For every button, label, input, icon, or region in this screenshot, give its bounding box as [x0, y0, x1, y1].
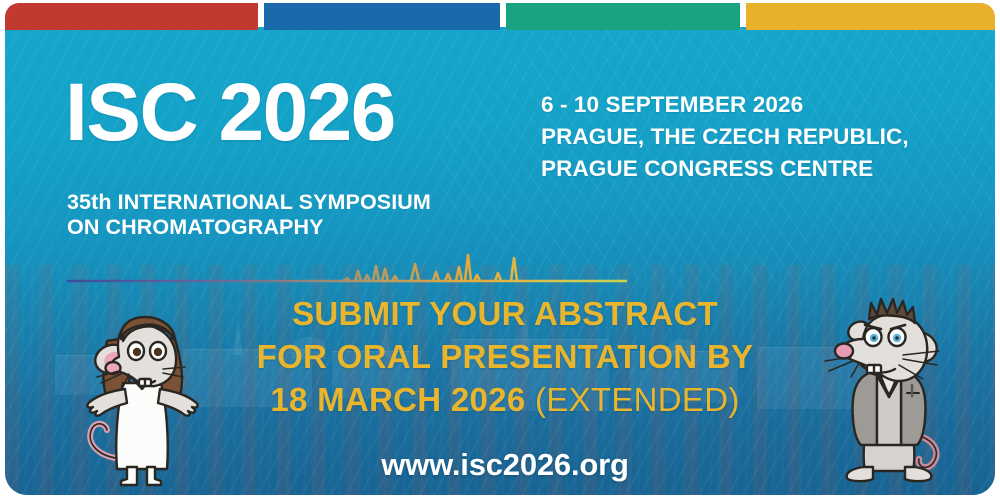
male-mouse-mascot — [811, 275, 971, 495]
topbar-segment-red — [5, 3, 258, 30]
conference-banner: ISC 2026 35th INTERNATIONAL SYMPOSIUM ON… — [0, 0, 1000, 500]
banner-card: ISC 2026 35th INTERNATIONAL SYMPOSIUM ON… — [5, 27, 995, 495]
event-logo: ISC 2026 — [65, 74, 395, 153]
topbar-segment-green — [506, 3, 740, 30]
female-mouse-mascot — [63, 279, 223, 494]
top-color-bar — [0, 0, 1000, 30]
topbar-segment-yellow — [746, 3, 995, 30]
topbar-segment-blue — [264, 3, 500, 30]
event-subtitle: 35th INTERNATIONAL SYMPOSIUM ON CHROMATO… — [67, 190, 431, 241]
event-venue-details: 6 - 10 SEPTEMBER 2026 PRAGUE, THE CZECH … — [541, 89, 909, 186]
cta-deadline-date: 18 MARCH 2026 — [270, 381, 525, 418]
cta-extended-note: (EXTENDED) — [526, 381, 740, 418]
